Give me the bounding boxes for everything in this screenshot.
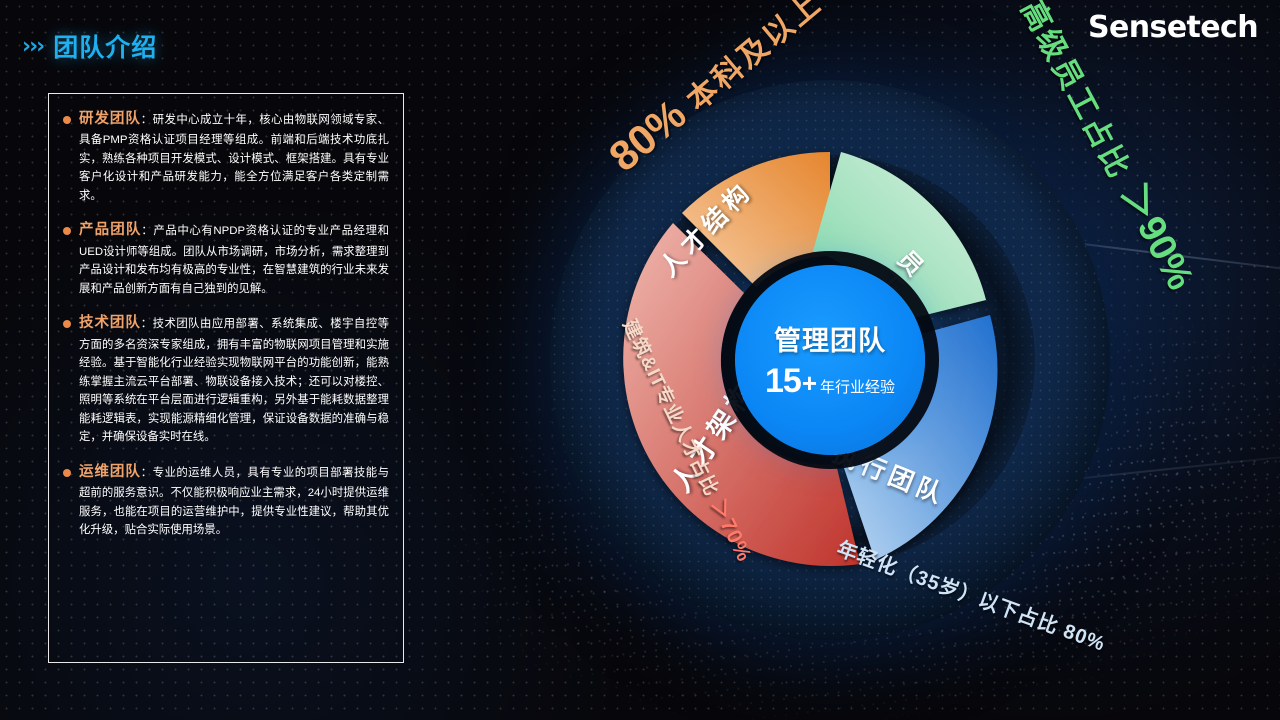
center-years-value: 15 bbox=[765, 362, 801, 401]
info-item-body: ：研发中心成立十年，核心由物联网领域专家、具备PMP资格认证项目经理等组成。前端… bbox=[79, 114, 389, 202]
list-item: 运维团队：专业的运维人员，具有专业的项目部署技能与超前的服务意识。不仅能积极响应… bbox=[63, 461, 389, 540]
bullet-icon bbox=[63, 116, 71, 124]
info-item-title: 运维团队 bbox=[79, 464, 141, 480]
center-title: 管理团队 bbox=[774, 319, 886, 358]
bullet-icon bbox=[63, 469, 71, 477]
info-item-title: 研发团队 bbox=[79, 111, 141, 127]
page-title-group: ››› 团队介绍 bbox=[22, 28, 157, 64]
info-item-title: 产品团队 bbox=[79, 222, 141, 238]
info-paragraph: 运维团队：专业的运维人员，具有专业的项目部署技能与超前的服务意识。不仅能积极响应… bbox=[79, 461, 389, 540]
center-years-caption: 年行业经验 bbox=[820, 376, 895, 397]
info-paragraph: 产品团队：产品中心有NPDP资格认证的专业产品经理和UED设计师等组成。团队从市… bbox=[79, 219, 389, 298]
list-item: 产品团队：产品中心有NPDP资格认证的专业产品经理和UED设计师等组成。团队从市… bbox=[63, 219, 389, 298]
list-item: 技术团队：技术团队由应用部署、系统集成、楼宇自控等方面的多名资深专家组成，拥有丰… bbox=[63, 312, 389, 446]
info-paragraph: 研发团队：研发中心成立十年，核心由物联网领域专家、具备PMP资格认证项目经理等组… bbox=[79, 108, 389, 205]
team-info-panel: 研发团队：研发中心成立十年，核心由物联网领域专家、具备PMP资格认证项目经理等组… bbox=[48, 93, 404, 663]
center-plus-sign: + bbox=[802, 368, 817, 399]
brand-logo: Sensetech bbox=[1088, 10, 1258, 45]
center-subtitle-group: 15 + 年行业经验 bbox=[765, 362, 895, 401]
info-item-body: ：技术团队由应用部署、系统集成、楼宇自控等方面的多名资深专家组成，拥有丰富的物联… bbox=[79, 318, 389, 443]
list-item: 研发团队：研发中心成立十年，核心由物联网领域专家、具备PMP资格认证项目经理等组… bbox=[63, 108, 389, 205]
bullet-icon bbox=[63, 227, 71, 235]
page-title: 团队介绍 bbox=[53, 28, 157, 64]
donut-center-management-team[interactable]: 管理团队 15 + 年行业经验 bbox=[735, 265, 925, 455]
bullet-icon bbox=[63, 320, 71, 328]
info-item-title: 技术团队 bbox=[79, 315, 141, 331]
info-paragraph: 技术团队：技术团队由应用部署、系统集成、楼宇自控等方面的多名资深专家组成，拥有丰… bbox=[79, 312, 389, 446]
team-structure-donut-chart: 人才结构 员工成圈 执行团队 人才架构 80% 本科及以上 中高级员工占比 ＞9… bbox=[530, 60, 1130, 660]
chevron-right-icon: ››› bbox=[22, 34, 43, 59]
